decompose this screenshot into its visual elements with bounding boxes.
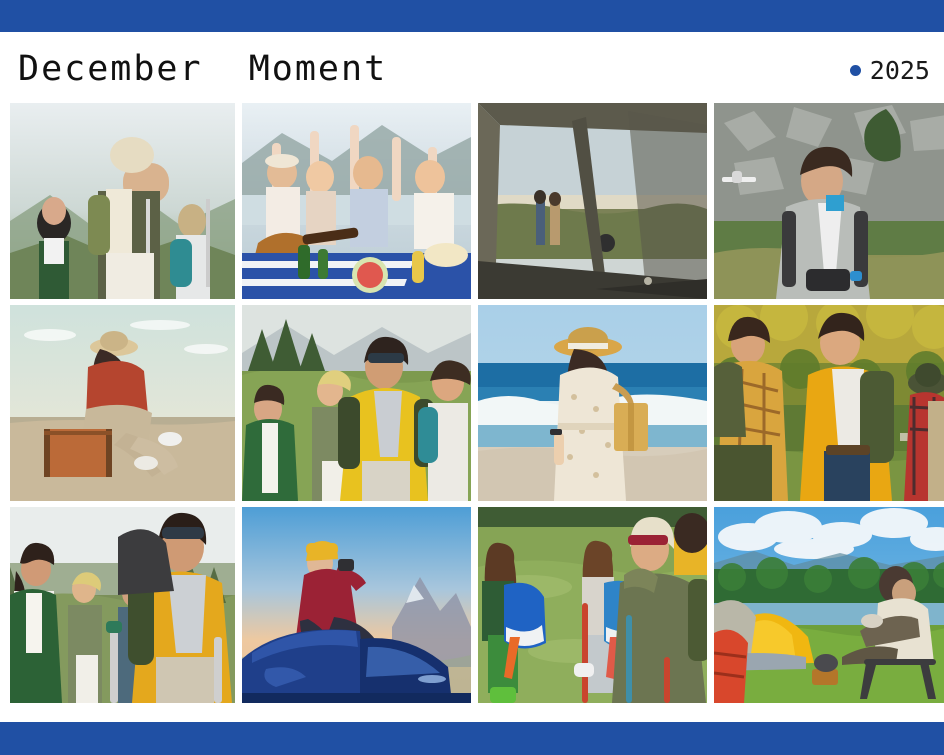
- photo-tile-2[interactable]: [242, 103, 471, 299]
- year-badge: 2025: [850, 58, 930, 83]
- photo-8-image: [714, 305, 944, 501]
- photo-2-image: [242, 103, 471, 299]
- photo-tile-10[interactable]: [242, 507, 471, 703]
- page-header: December Moment 2025: [0, 32, 944, 103]
- calendar-page: December Moment 2025: [0, 0, 944, 755]
- page-title: December Moment: [18, 52, 387, 87]
- photo-tile-4[interactable]: [714, 103, 944, 299]
- photo-7-image: [478, 305, 707, 501]
- photo-1-image: [10, 103, 235, 299]
- photo-10-image: [242, 507, 471, 703]
- photo-tile-5[interactable]: [10, 305, 235, 501]
- photo-6-image: [242, 305, 471, 501]
- photo-tile-11[interactable]: [478, 507, 707, 703]
- photo-tile-6[interactable]: [242, 305, 471, 501]
- top-accent-bar: [0, 0, 944, 32]
- photo-5-image: [10, 305, 235, 501]
- photo-tile-9[interactable]: [10, 507, 235, 703]
- photo-11-image: [478, 507, 707, 703]
- photo-tile-8[interactable]: [714, 305, 944, 501]
- photo-tile-7[interactable]: [478, 305, 707, 501]
- photo-12-image: [714, 507, 944, 703]
- photo-3-image: [478, 103, 707, 299]
- photo-tile-1[interactable]: [10, 103, 235, 299]
- photo-9-image: [10, 507, 235, 703]
- photo-4-image: [714, 103, 944, 299]
- photo-tile-3[interactable]: [478, 103, 707, 299]
- year-label: 2025: [870, 58, 930, 83]
- photo-grid: [10, 103, 944, 704]
- photo-tile-12[interactable]: [714, 507, 944, 703]
- bottom-accent-bar: [0, 722, 944, 755]
- bullet-dot-icon: [850, 65, 861, 76]
